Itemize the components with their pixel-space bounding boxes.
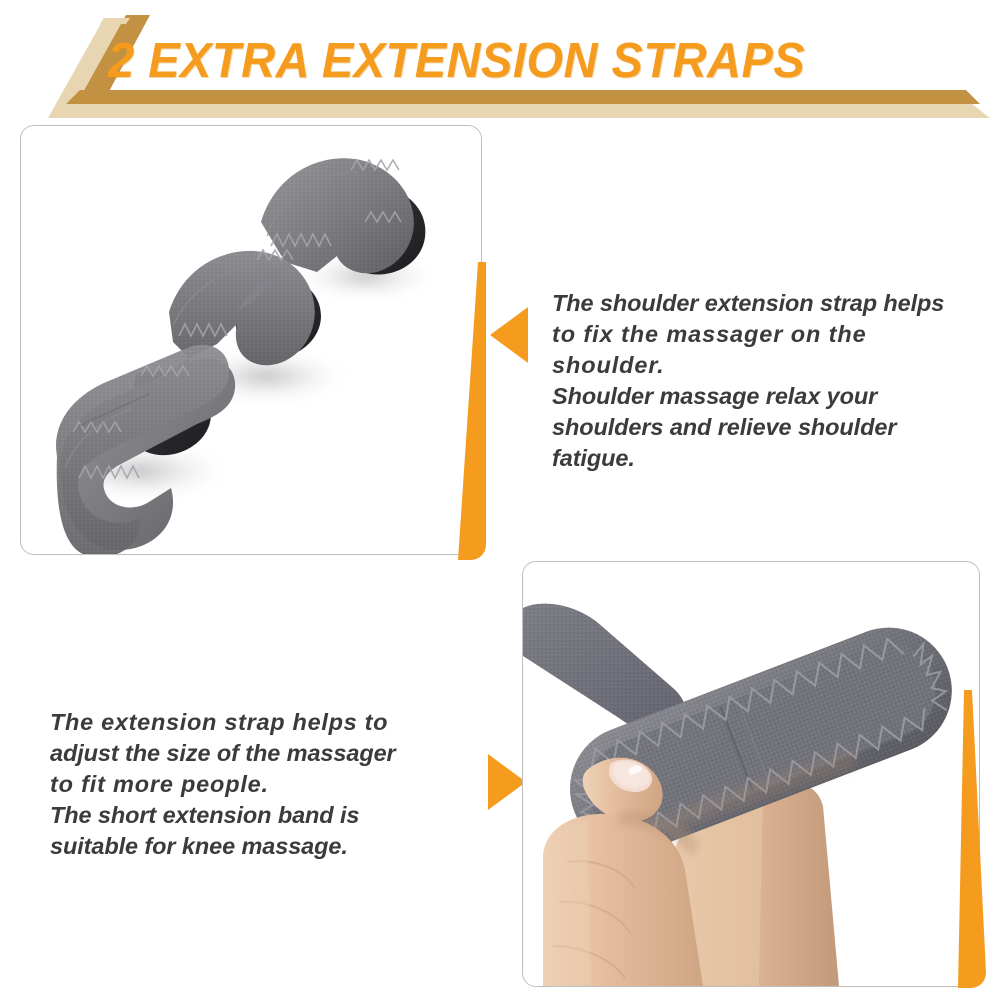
caption-line: adjust the size of the massager xyxy=(50,738,470,769)
caption-line: The extension strap helps to xyxy=(50,707,470,738)
caption-line: The shoulder extension strap helps xyxy=(552,288,982,319)
shoulder-strap-photo-card xyxy=(20,125,482,555)
caption-line: Shoulder massage relax your xyxy=(552,381,982,412)
caption-line: to fix the massager on the shoulder. xyxy=(552,319,982,381)
caption-line: The short extension band is xyxy=(50,800,470,831)
orange-wedge-accent-right xyxy=(946,690,992,990)
caption-line: suitable for knee massage. xyxy=(50,831,470,862)
caption-line: shoulders and relieve shoulder xyxy=(552,412,982,443)
shoulder-strap-photo xyxy=(21,126,481,554)
triangle-left-icon xyxy=(488,305,530,365)
extension-band-photo xyxy=(523,562,979,986)
extension-band-photo-card xyxy=(522,561,980,987)
header-banner: 2 EXTRA EXTENSION STRAPS xyxy=(0,0,1000,125)
page-title: 2 EXTRA EXTENSION STRAPS xyxy=(108,33,805,89)
product-feature-page: 2 EXTRA EXTENSION STRAPS xyxy=(0,0,1000,1000)
shoulder-caption: The shoulder extension strap helps to fi… xyxy=(552,288,982,474)
caption-line: fatigue. xyxy=(552,443,982,474)
caption-line: to fit more people. xyxy=(50,769,470,800)
extension-caption: The extension strap helps to adjust the … xyxy=(50,707,470,862)
